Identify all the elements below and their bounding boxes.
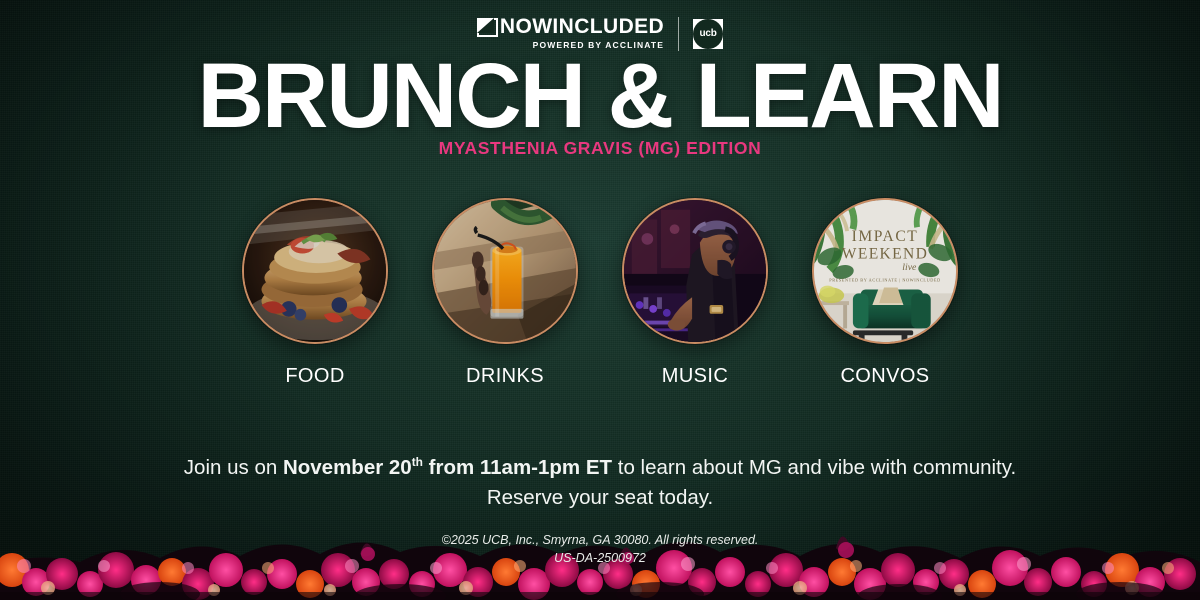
impact-weekend-live-lounge-photo: IMPACT WEEKEND live PRESENTED BY ACCLINA…	[814, 200, 956, 342]
convos-photo-circle: IMPACT WEEKEND live PRESENTED BY ACCLINA…	[812, 198, 958, 344]
nowincluded-mark-icon	[477, 18, 494, 33]
feature-label-drinks: DRINKS	[466, 365, 544, 388]
copyright-line: ©2025 UCB, Inc., Smyrna, GA 30080. All r…	[0, 531, 1200, 549]
ucb-logo[interactable]: ucb	[693, 19, 723, 49]
feature-item-drinks[interactable]: DRINKS	[432, 198, 578, 388]
event-details-line-1: Join us on November 20th from 11am-1pm E…	[0, 447, 1200, 483]
feature-label-convos: CONVOS	[840, 365, 929, 388]
feature-item-convos[interactable]: IMPACT WEEKEND live PRESENTED BY ACCLINA…	[812, 198, 958, 388]
dj-at-mixing-console-photo	[624, 200, 766, 342]
event-line1-suffix: to learn about MG and vibe with communit…	[612, 456, 1016, 479]
event-details-text: Join us on November 20th from 11am-1pm E…	[0, 447, 1200, 513]
food-photo-circle	[242, 198, 388, 344]
event-date: November 20	[283, 456, 412, 479]
pancake-stack-with-berries-photo	[244, 200, 386, 342]
feature-label-music: MUSIC	[662, 365, 728, 388]
feature-item-music[interactable]: MUSIC	[622, 198, 768, 388]
event-time: from 11am-1pm ET	[423, 456, 612, 479]
page-title: BRUNCH & LEARN	[0, 50, 1200, 142]
page-subtitle: MYASTHENIA GRAVIS (MG) EDITION	[0, 138, 1200, 159]
job-code-line: US-DA-2500972	[0, 549, 1200, 567]
poster-canvas: NOWINCLUDED POWERED BY ACCLINATE ucb BRU…	[0, 0, 1200, 600]
legal-text: ©2025 UCB, Inc., Smyrna, GA 30080. All r…	[0, 531, 1200, 567]
feature-label-food: FOOD	[285, 365, 344, 388]
page-subtitle-text: MYASTHENIA GRAVIS (MG) EDITION	[0, 138, 1200, 159]
ucb-wordmark: ucb	[700, 29, 717, 39]
feature-item-food[interactable]: FOOD	[242, 198, 388, 388]
event-date-ordinal: th	[412, 455, 423, 469]
event-details-line-2: Reserve your seat today.	[0, 483, 1200, 513]
drinks-photo-circle	[432, 198, 578, 344]
music-photo-circle	[622, 198, 768, 344]
event-line1-prefix: Join us on	[184, 456, 283, 479]
orange-cocktail-in-glass-photo	[434, 200, 576, 342]
nowincluded-wordmark: NOWINCLUDED	[500, 16, 664, 37]
feature-circles: FOOD	[0, 198, 1200, 388]
